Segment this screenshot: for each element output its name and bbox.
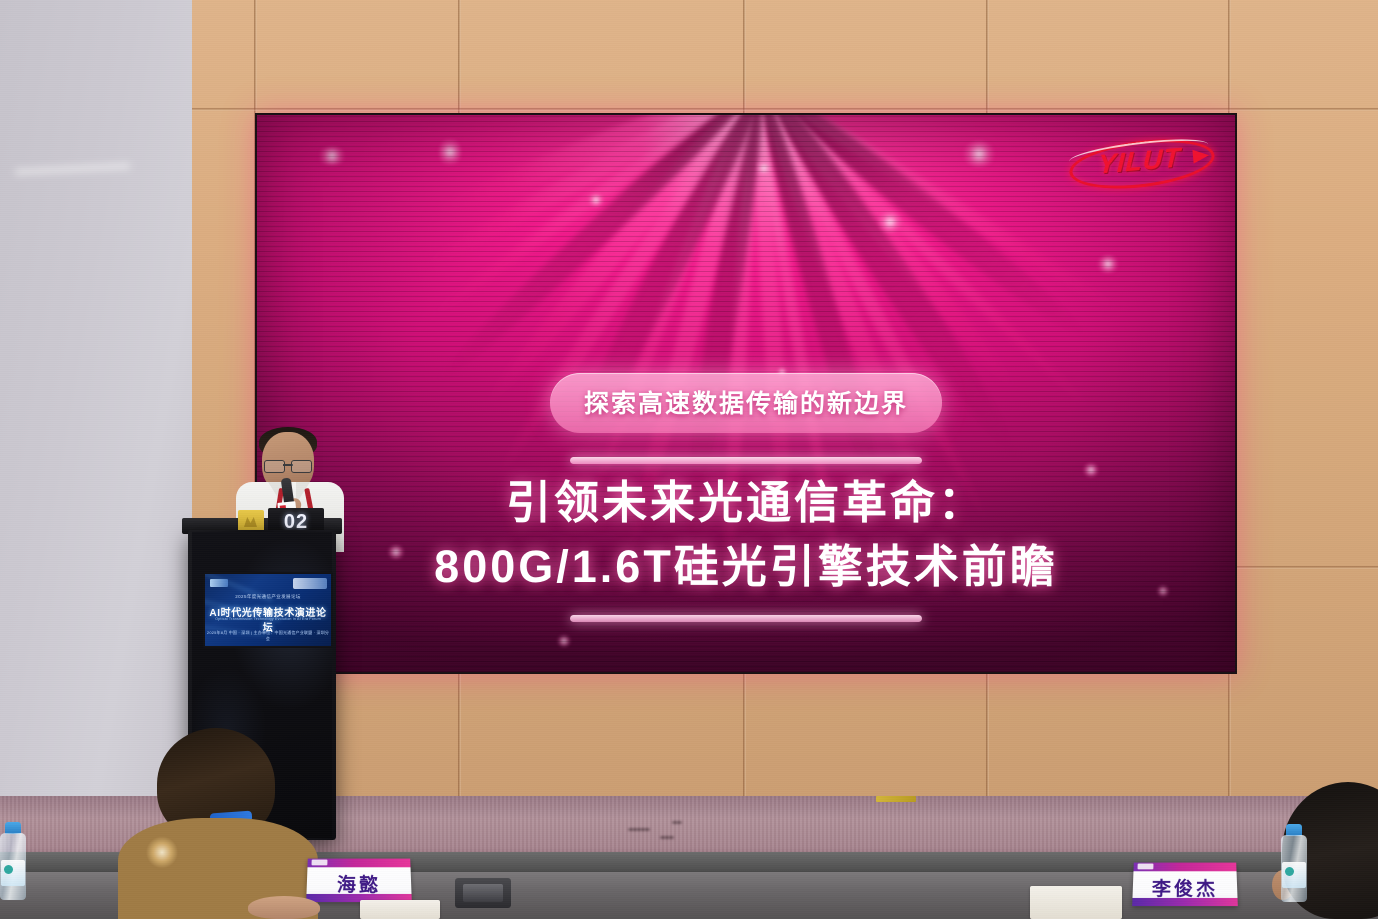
conference-photo: YILUT 探索高速数据传输的新边界 引领未来光通信革命： 800G/1.6T硅… — [0, 0, 1378, 919]
name-card-strip-bottom — [1132, 898, 1238, 906]
water-bottle — [0, 822, 26, 900]
table-papers — [1030, 886, 1122, 919]
slide-title-line-2: 800G/1.6T硅光引擎技术前瞻 — [257, 535, 1235, 599]
side-curtain-wall — [0, 0, 192, 830]
slide-divider-top — [570, 457, 922, 464]
water-bottle — [1281, 824, 1307, 902]
floor-mark — [672, 821, 682, 824]
bottle-label — [1, 860, 25, 886]
logo-wordmark: YILUT — [1097, 142, 1181, 180]
slide-content: YILUT 探索高速数据传输的新边界 引领未来光通信革命： 800G/1.6T硅… — [257, 115, 1235, 672]
slide-divider-bottom — [570, 615, 922, 622]
yilut-logo: YILUT — [1065, 133, 1213, 189]
logo-arrow-icon — [1192, 148, 1209, 163]
name-card-right: 李俊杰 — [1132, 863, 1238, 906]
slide-title-line-1: 引领未来光通信革命： — [257, 471, 1235, 535]
name-card-left: 海懿 — [306, 859, 412, 902]
table-device — [455, 878, 511, 908]
bottle-label — [1282, 862, 1306, 888]
audience-hand — [248, 896, 320, 919]
table-papers — [360, 900, 440, 919]
slide-title-block: 引领未来光通信革命： 800G/1.6T硅光引擎技术前瞻 — [257, 471, 1235, 599]
slide-subtitle-pill: 探索高速数据传输的新边界 — [550, 373, 942, 433]
wall-seam-horizontal — [186, 108, 1378, 111]
name-card-tag — [1138, 864, 1154, 870]
name-card-tag — [312, 860, 328, 866]
led-presentation-screen: YILUT 探索高速数据传输的新边界 引领未来光通信革命： 800G/1.6T硅… — [255, 113, 1237, 674]
stage-marker-tape — [876, 796, 916, 802]
floor-mark — [660, 836, 674, 839]
display-logo-left-icon — [210, 579, 228, 587]
floor-mark — [628, 828, 650, 831]
